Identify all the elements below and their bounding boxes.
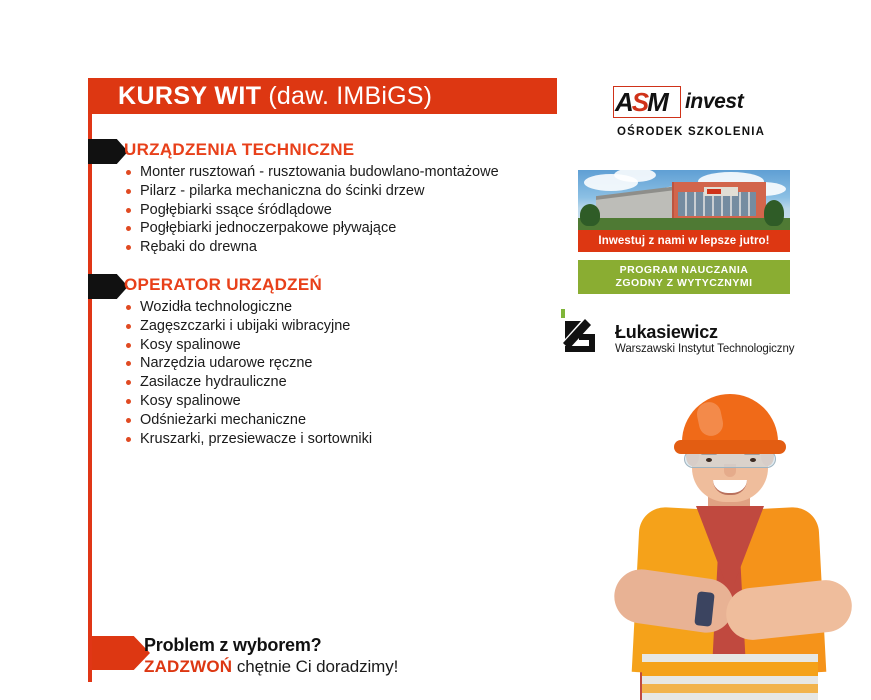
lukasiewicz-text: Łukasiewicz Warszawski Instytut Technolo… [615,322,794,357]
section-urzadzenia-techniczne: URZĄDZENIA TECHNICZNE Monter rusztowań -… [124,140,499,257]
footer-subline: ZADZWOŃ chętnie Ci doradzimy! [144,656,398,678]
asm-logo-letters: ASM [615,87,667,117]
lukasiewicz-mark-icon [555,308,607,360]
asm-logo-word: invest [685,90,743,114]
left-vertical-rule [88,112,92,682]
list-item: Pilarz - pilarka mechaniczna do ścinki d… [124,182,499,201]
section-list-1: Monter rusztowań - rusztowania budowlano… [124,163,499,257]
list-item: Kruszarki, przesiewacze i sortowniki [124,430,372,449]
asm-letter-m: M [647,87,667,117]
section-marker-icon-2 [88,274,128,299]
section-marker-icon-1 [88,139,128,164]
program-compliance-banner: PROGRAM NAUCZANIA ZGODNY Z WYTYCZNYMI [578,260,790,294]
asm-letter-a: A [615,87,632,117]
list-item: Monter rusztowań - rusztowania budowlano… [124,163,499,182]
promo-photo-caption: Inwestuj z nami w lepsze jutro! [578,230,790,252]
list-item: Wozidła technologiczne [124,298,372,317]
green-banner-line2: ZGODNY Z WYTYCZNYMI [615,277,752,290]
section-title-2: OPERATOR URZĄDZEŃ [124,275,372,295]
footer-call-word: ZADZWOŃ [144,657,232,676]
section-operator-urzadzen: OPERATOR URZĄDZEŃ Wozidła technologiczne… [124,275,372,448]
asm-invest-logo: ASM invest OŚRODEK SZKOLENIA [613,86,773,138]
list-item: Zasilacze hydrauliczne [124,373,372,392]
list-item: Rębaki do drewna [124,238,499,257]
lukasiewicz-name: Łukasiewicz [615,322,794,342]
list-item: Pogłębiarki ssące śródlądowe [124,201,499,220]
footer-headline: Problem z wyborem? [144,634,398,656]
promo-photo-block: Inwestuj z nami w lepsze jutro! [578,170,790,252]
footer-call-rest: chętnie Ci doradzimy! [232,657,398,676]
page-title-light: (daw. IMBiGS) [268,82,432,110]
section-title-1: URZĄDZENIA TECHNICZNE [124,140,499,160]
list-item: Zagęszczarki i ubijaki wibracyjne [124,317,372,336]
lukasiewicz-logo: Łukasiewicz Warszawski Instytut Technolo… [553,306,808,370]
asm-letter-s: S [632,87,647,117]
list-item: Odśnieżarki mechaniczne [124,411,372,430]
page-title: KURSY WIT (daw. IMBiGS) [118,84,432,109]
asm-logomark-icon: ASM invest [613,86,763,120]
footer-call-to-action: Problem z wyborem? ZADZWOŃ chętnie Ci do… [144,634,398,678]
section-list-2: Wozidła technologiczne Zagęszczarki i ub… [124,298,372,448]
page-title-strong: KURSY WIT [118,82,261,110]
green-banner-line1: PROGRAM NAUCZANIA [620,264,749,277]
list-item: Narzędzia udarowe ręczne [124,354,372,373]
asm-logo-subtitle: OŚRODEK SZKOLENIA [617,126,773,138]
construction-worker-photo [600,388,871,700]
poster-canvas: KURSY WIT (daw. IMBiGS) URZĄDZENIA TECHN… [0,0,871,700]
footer-arrow-icon [92,636,150,670]
building-photo [578,170,790,230]
list-item: Pogłębiarki jednoczerpakowe pływające [124,219,499,238]
header-banner: KURSY WIT (daw. IMBiGS) [88,78,557,114]
lukasiewicz-subtitle: Warszawski Instytut Technologiczny [615,342,794,357]
list-item: Kosy spalinowe [124,392,372,411]
list-item: Kosy spalinowe [124,336,372,355]
